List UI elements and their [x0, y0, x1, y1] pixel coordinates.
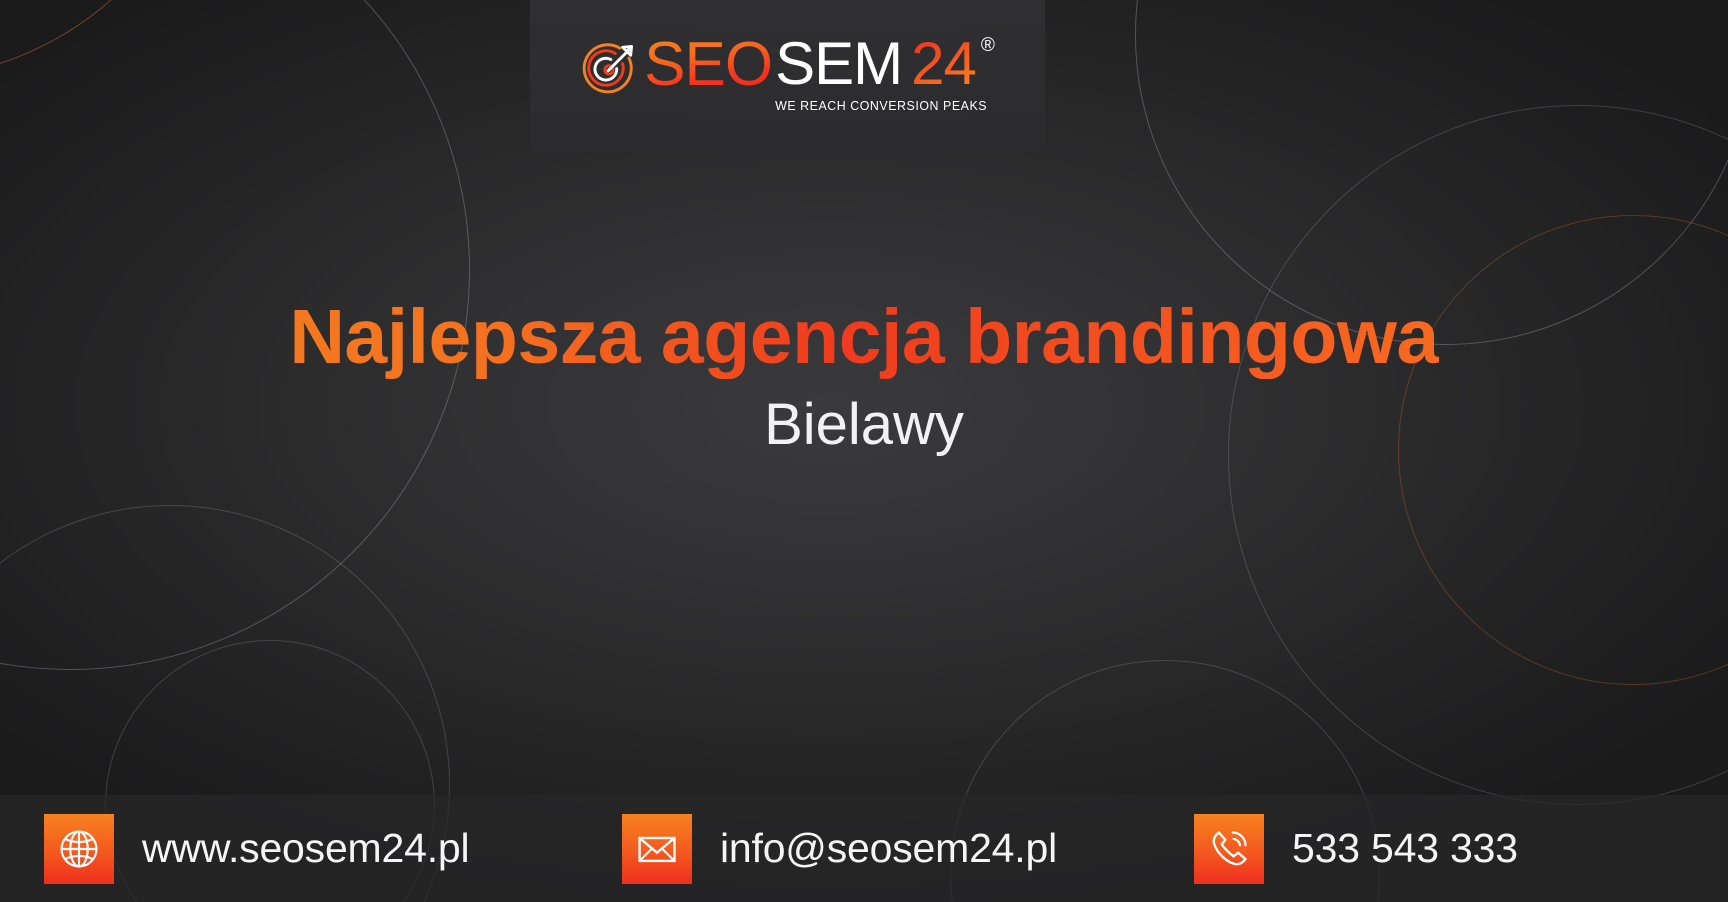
logo-sem-text: SEM: [775, 34, 902, 94]
envelope-icon: [622, 814, 692, 884]
logo-number-text: 24: [911, 34, 976, 94]
footer-email-label: info@seosem24.pl: [720, 825, 1057, 872]
footer-item-website[interactable]: www.seosem24.pl: [44, 814, 469, 884]
registered-mark: ®: [981, 36, 995, 55]
page-subtitle: Bielawy: [0, 393, 1728, 457]
logo-tagline: WE REACH CONVERSION PEAKS: [775, 98, 995, 112]
hero-text-block: Najlepsza agencja brandingowa Bielawy: [0, 296, 1728, 457]
phone-call-icon: [1194, 814, 1264, 884]
globe-icon: [44, 814, 114, 884]
decorative-circle-outline: [0, 0, 220, 80]
page-title: Najlepsza agencja brandingowa: [289, 296, 1438, 379]
logo-panel: SEO SEM 24 ® WE REACH CONVERSION PEAKS: [530, 0, 1045, 150]
slide-canvas: SEO SEM 24 ® WE REACH CONVERSION PEAKS N…: [0, 0, 1728, 902]
footer-contact-bar: www.seosem24.pl info@seosem24.pl: [0, 795, 1728, 902]
footer-website-label: www.seosem24.pl: [142, 825, 469, 872]
seosem24-logo[interactable]: SEO SEM 24 ® WE REACH CONVERSION PEAKS: [580, 34, 995, 113]
logo-seo-text: SEO: [644, 34, 772, 96]
footer-phone-label: 533 543 333: [1292, 825, 1518, 872]
target-dart-icon: [580, 40, 638, 98]
footer-item-phone[interactable]: 533 543 333: [1194, 814, 1518, 884]
footer-item-email[interactable]: info@seosem24.pl: [622, 814, 1057, 884]
